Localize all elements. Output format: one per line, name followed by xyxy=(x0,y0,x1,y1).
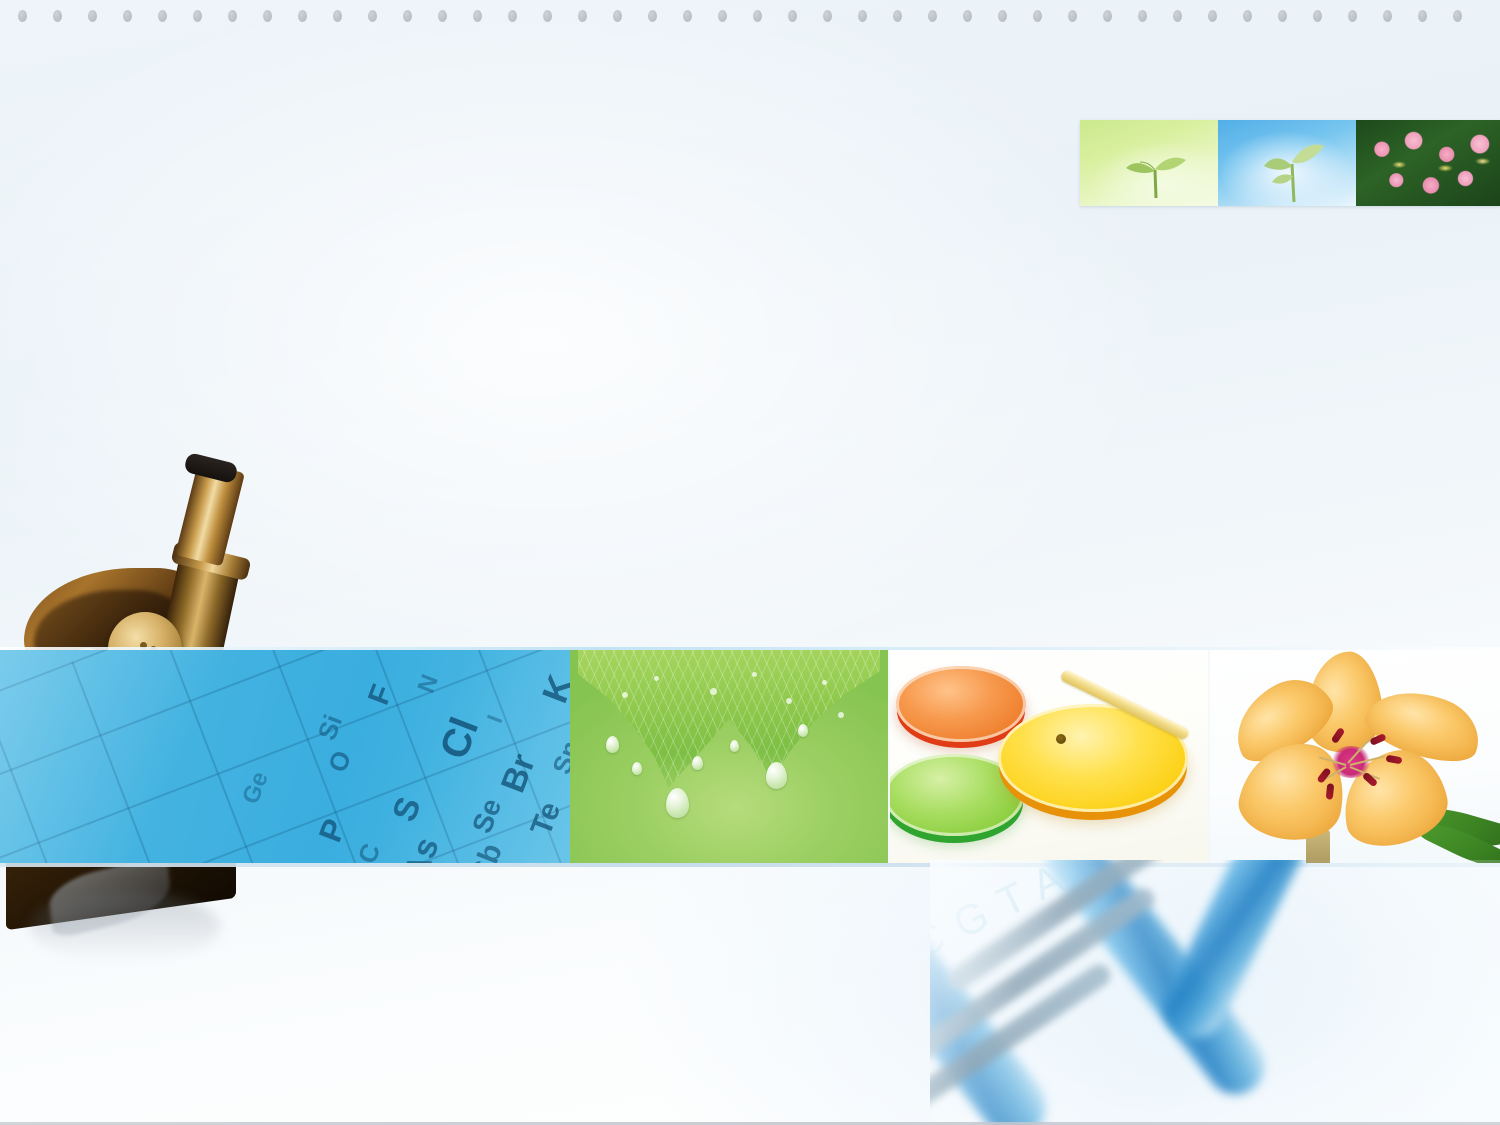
perforation-dot xyxy=(788,10,797,22)
perforation-dot xyxy=(578,10,587,22)
perforation-dot xyxy=(333,10,342,22)
perforation-dot xyxy=(1243,10,1252,22)
perforation-dot xyxy=(1313,10,1322,22)
thumb-flowers-pink xyxy=(1356,120,1500,206)
perforation-dot xyxy=(1278,10,1287,22)
science-image-band: FClBrKOSSeTePAsSbSiGeSnNIC xyxy=(0,650,1500,863)
perforation-dot xyxy=(998,10,1007,22)
perforation-dot xyxy=(1173,10,1182,22)
perforation-dot xyxy=(823,10,832,22)
perforation-dot xyxy=(53,10,62,22)
panel-periodic-table: FClBrKOSSeTePAsSbSiGeSnNIC xyxy=(0,650,572,863)
perforation-dot xyxy=(858,10,867,22)
perforation-dot xyxy=(368,10,377,22)
perforation-dot xyxy=(298,10,307,22)
perforation-dot xyxy=(893,10,902,22)
thumb-seedling-blue xyxy=(1218,120,1356,206)
perforation-dot xyxy=(403,10,412,22)
petri-dish-orange xyxy=(896,666,1026,742)
perforation-dot xyxy=(88,10,97,22)
sprout-icon xyxy=(1120,140,1192,198)
panel-lily-flower xyxy=(1210,650,1500,863)
perforation-dot xyxy=(1068,10,1077,22)
top-right-image-triptych xyxy=(1080,120,1500,206)
thumb-seedling-green xyxy=(1080,120,1218,206)
panel-leaf-droplets xyxy=(570,650,888,863)
perforation-dot xyxy=(928,10,937,22)
perforation-dot xyxy=(473,10,482,22)
perforation-dot xyxy=(1453,10,1462,22)
perforation-dot xyxy=(1383,10,1392,22)
pipette-tip xyxy=(1056,734,1066,744)
perforation-dot xyxy=(753,10,762,22)
perforation-dot xyxy=(1208,10,1217,22)
perforation-dot xyxy=(1103,10,1112,22)
perforation-dot xyxy=(18,10,27,22)
perforation-dot xyxy=(193,10,202,22)
perforation-dot xyxy=(508,10,517,22)
panel-petri-dishes xyxy=(890,650,1208,863)
perforation-dot xyxy=(963,10,972,22)
perforation-dot xyxy=(438,10,447,22)
dna-helix-watermark: ATGCGTACGATCGTAGCATCGGATCCTAGCATGACCTAGC… xyxy=(930,860,1500,1125)
perforation-dot xyxy=(263,10,272,22)
perforation-dot xyxy=(228,10,237,22)
perforation-dot xyxy=(158,10,167,22)
perforation-dot xyxy=(648,10,657,22)
perforation-dot xyxy=(1033,10,1042,22)
perforation-dot xyxy=(123,10,132,22)
perforation-dot xyxy=(1138,10,1147,22)
perforation-dot xyxy=(683,10,692,22)
perforation-dot xyxy=(1418,10,1427,22)
presentation-slide: FClBrKOSSeTePAsSbSiGeSnNIC xyxy=(0,0,1500,1125)
perforation-dot xyxy=(613,10,622,22)
sprout-icon xyxy=(1252,132,1332,202)
perforation-dot-row xyxy=(0,10,1500,32)
perforation-dot xyxy=(543,10,552,22)
slide-content-area[interactable] xyxy=(330,240,1410,600)
perforation-dot xyxy=(718,10,727,22)
perforation-dot xyxy=(1348,10,1357,22)
